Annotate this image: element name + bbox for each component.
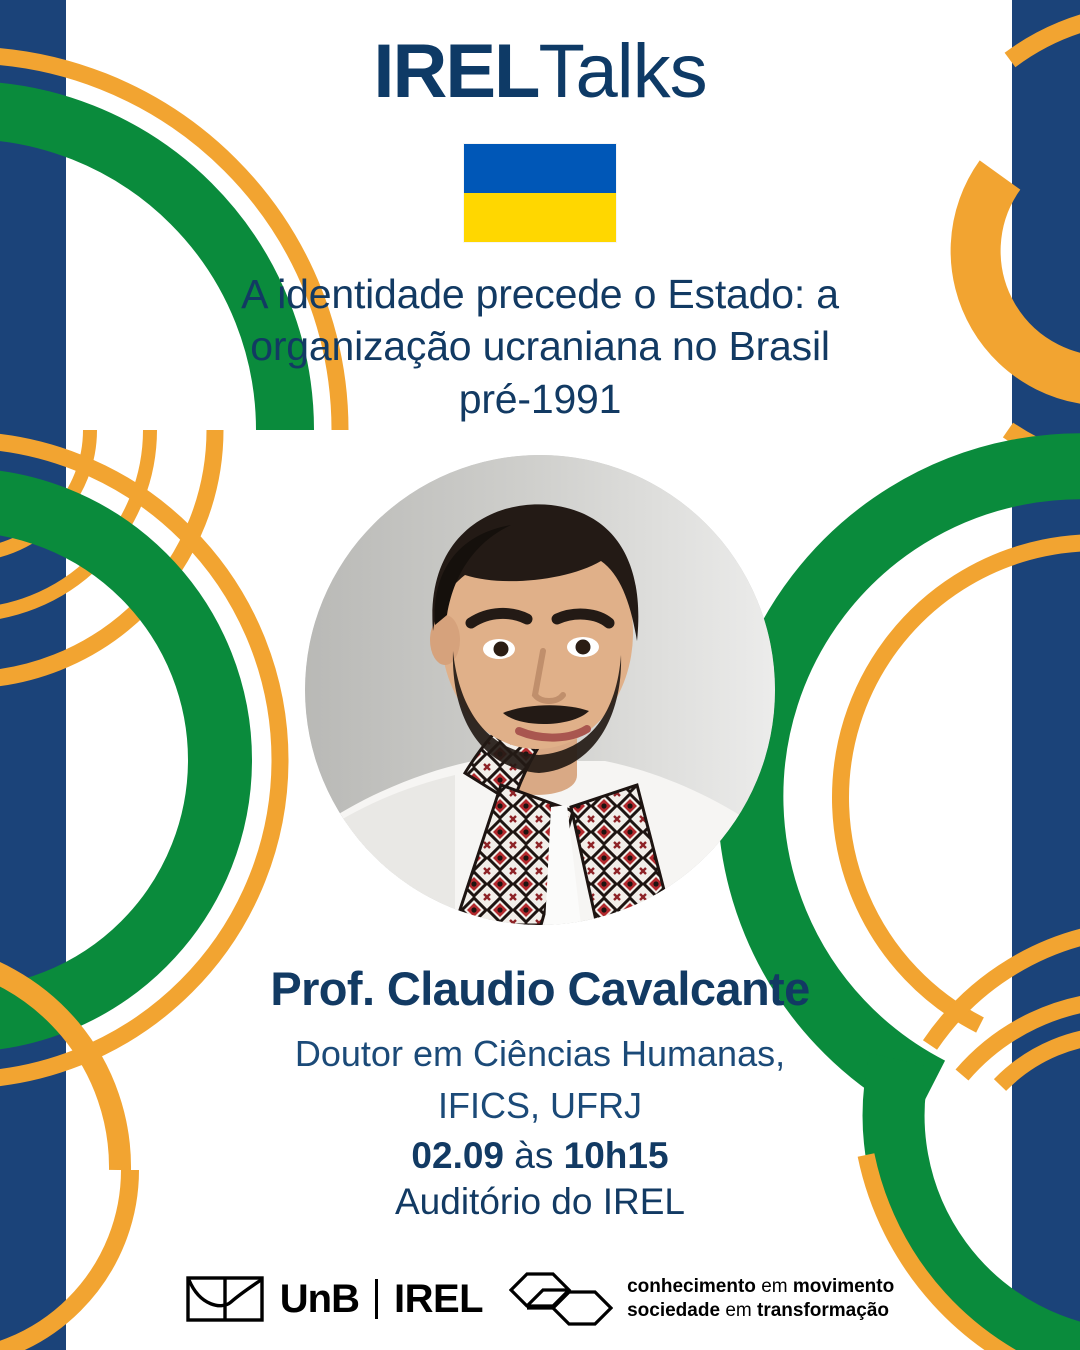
- speaker-name: Prof. Claudio Cavalcante: [270, 961, 809, 1016]
- brand-bold-part: IREL: [373, 29, 538, 114]
- unb-logo-icon: [186, 1276, 264, 1322]
- logo-divider: [375, 1279, 378, 1319]
- tagline-l1-bold1: conhecimento: [627, 1276, 756, 1297]
- speaker-portrait: [305, 455, 775, 925]
- footer-logos: UnB IREL conhecimento em movimento socie…: [0, 1270, 1080, 1328]
- infinity-knot-icon: [509, 1270, 613, 1328]
- ukraine-flag-icon: [464, 144, 616, 242]
- event-datetime: 02.09 às 10h15: [411, 1135, 668, 1177]
- speaker-role-line1: Doutor em Ciências Humanas,: [295, 1028, 785, 1079]
- event-connector: às: [514, 1135, 553, 1176]
- speaker-credentials: Doutor em Ciências Humanas, IFICS, UFRJ: [295, 1028, 785, 1130]
- tagline-line-2: sociedade em transformação: [627, 1299, 894, 1323]
- tagline-line-1: conhecimento em movimento: [627, 1275, 894, 1299]
- talk-title: A identidade precede o Estado: a organiz…: [190, 268, 890, 425]
- irel-wordmark: IREL: [394, 1279, 483, 1319]
- tagline-l2-bold1: sociedade: [627, 1300, 720, 1321]
- event-poster: IRELTalks A identidade precede o Estado:…: [0, 0, 1080, 1350]
- tagline-l1-bold2: movimento: [793, 1276, 894, 1297]
- poster-content: IRELTalks A identidade precede o Estado:…: [0, 0, 1080, 1350]
- portrait-illustration: [305, 455, 775, 925]
- page-title: IRELTalks: [373, 34, 706, 110]
- tagline-l2-bold2: transformação: [757, 1300, 889, 1321]
- unb-slogan-lockup: conhecimento em movimento sociedade em t…: [509, 1270, 894, 1328]
- unb-wordmark: UnB: [280, 1279, 359, 1319]
- event-date: 02.09: [411, 1135, 504, 1176]
- event-location: Auditório do IREL: [395, 1181, 685, 1223]
- tagline-l2-regular: em: [725, 1300, 751, 1321]
- unb-irel-lockup: UnB IREL: [186, 1276, 483, 1322]
- brand-light-part: Talks: [538, 29, 706, 114]
- tagline-l1-regular: em: [761, 1276, 787, 1297]
- unb-tagline: conhecimento em movimento sociedade em t…: [627, 1275, 894, 1324]
- event-time: 10h15: [564, 1135, 669, 1176]
- speaker-role-line2: IFICS, UFRJ: [295, 1080, 785, 1131]
